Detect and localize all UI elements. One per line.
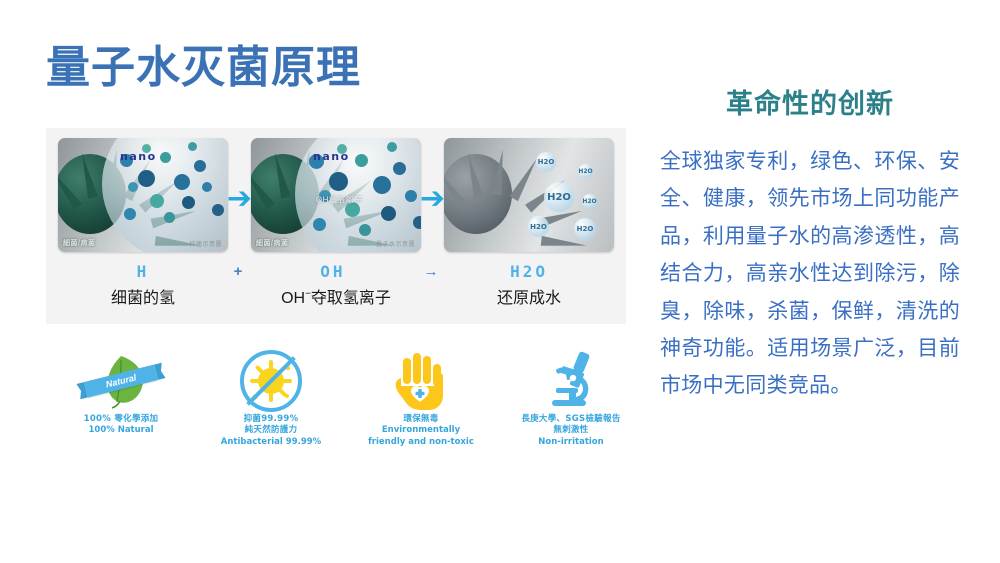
nano-logo: nano bbox=[120, 150, 157, 163]
caption-bacteria-hydrogen: 细菌的氢 bbox=[58, 284, 228, 308]
feature-non-toxic-line2: Environmentally bbox=[346, 425, 496, 436]
feature-non-irritation: 長庚大學、SGS檢驗報告 無刺激性 Non-irritation bbox=[496, 348, 646, 468]
feature-antibacterial-line2: 純天然防護力 bbox=[196, 425, 346, 436]
right-column: 革命性的创新 全球独家专利，绿色、环保、安全、健康，领先市场上同功能产品，利用量… bbox=[660, 82, 960, 405]
feature-non-irritation-caption: 長庚大學、SGS檢驗報告 無刺激性 Non-irritation bbox=[496, 414, 646, 448]
panel-oh-caption-right: 量子水示意圖 bbox=[376, 239, 415, 248]
feature-non-toxic: 環保無毒 Environmentally friendly and non-to… bbox=[346, 348, 496, 468]
diagram-step-water: H2O H2O H2O H2O H2O H2O bbox=[444, 138, 614, 252]
arrow-right-icon: ➔ bbox=[420, 184, 445, 214]
diagram-step-oh: nano OH氫氧離子 H離子 細菌/病菌 量子水示意圖 bbox=[251, 138, 421, 252]
feature-non-toxic-caption: 環保無毒 Environmentally friendly and non-to… bbox=[346, 414, 496, 448]
feature-natural-caption: 100% 零化學添加 100% Natural bbox=[46, 414, 196, 437]
panel-water-image: H2O H2O H2O H2O H2O H2O bbox=[444, 138, 614, 252]
nano-logo: nano bbox=[313, 150, 350, 163]
panel-bacteria-caption-right: 抑菌示意圖 bbox=[189, 239, 222, 248]
water-bubble: H2O bbox=[528, 216, 549, 237]
water-bubble: H2O bbox=[536, 152, 556, 172]
panel-oh-image: nano OH氫氧離子 H離子 細菌/病菌 量子水示意圖 bbox=[251, 138, 421, 252]
feature-non-irritation-line1: 長庚大學、SGS檢驗報告 bbox=[496, 414, 646, 425]
diagram-step-bacteria: nano 細菌/病菌 抑菌示意圖 bbox=[58, 138, 228, 252]
diagram-image-row: nano 細菌/病菌 抑菌示意圖 ➔ bbox=[46, 138, 626, 258]
feature-antibacterial-line1: 抑菌99.99% bbox=[196, 414, 346, 425]
water-bubble: H2O bbox=[574, 218, 596, 240]
left-column: nano 細菌/病菌 抑菌示意圖 ➔ bbox=[46, 128, 626, 324]
reaction-diagram-panel: nano 細菌/病菌 抑菌示意圖 ➔ bbox=[46, 128, 626, 324]
diagram-caption-row: 细菌的氢 OH−夺取氢离子 还原成水 bbox=[46, 284, 626, 318]
caption-reduced-to-water: 还原成水 bbox=[444, 284, 614, 308]
feature-antibacterial-caption: 抑菌99.99% 純天然防護力 Antibacterial 99.99% bbox=[196, 414, 346, 448]
symbol-h2o: H2O bbox=[444, 262, 614, 281]
diagram-connector-1: ➔ bbox=[228, 138, 251, 252]
feature-non-irritation-line2: 無刺激性 bbox=[496, 425, 646, 436]
water-bubble: H2O bbox=[582, 194, 597, 209]
feature-natural-line1: 100% 零化學添加 bbox=[46, 414, 196, 425]
feature-natural: Natural 100% 零化學添加 100% Natural bbox=[46, 348, 196, 468]
caption-oh-prefix: OH bbox=[281, 290, 305, 307]
microscope-icon bbox=[496, 348, 646, 414]
feature-antibacterial-line3: Antibacterial 99.99% bbox=[196, 437, 346, 448]
page-title: 量子水灭菌原理 bbox=[46, 46, 361, 90]
feature-icon-row: Natural 100% 零化學添加 100% Natural bbox=[46, 348, 646, 468]
panel-bacteria-image: nano 細菌/病菌 抑菌示意圖 bbox=[58, 138, 228, 252]
feature-natural-line2: 100% Natural bbox=[46, 425, 196, 436]
symbol-plus: + bbox=[228, 263, 248, 280]
hand-shape-icon bbox=[393, 350, 449, 412]
symbol-yields: → bbox=[418, 263, 444, 280]
caption-oh-takes-hydrogen: OH−夺取氢离子 bbox=[251, 284, 421, 308]
innovation-heading: 革命性的创新 bbox=[660, 82, 960, 121]
slide-root: 量子水灭菌原理 bbox=[0, 0, 1000, 563]
feature-non-toxic-line3: friendly and non-toxic bbox=[346, 437, 496, 448]
feature-non-irritation-line3: Non-irritation bbox=[496, 437, 646, 448]
leaf-icon: Natural bbox=[46, 348, 196, 414]
water-bubble: H2O bbox=[578, 164, 593, 179]
oh-ion-label: OH氫氧離子 bbox=[316, 194, 363, 205]
no-germ-icon bbox=[196, 348, 346, 414]
h-ion-label: H離子 bbox=[322, 229, 341, 239]
microscope-shape-icon bbox=[542, 350, 600, 412]
panel-oh-caption-left: 細菌/病菌 bbox=[256, 238, 288, 248]
feature-non-toxic-line1: 環保無毒 bbox=[346, 414, 496, 425]
diagram-connector-2: ➔ bbox=[421, 138, 444, 252]
symbol-oh: OH bbox=[248, 262, 418, 281]
symbol-h: H bbox=[58, 262, 228, 281]
caption-oh-rest: 夺取氢离子 bbox=[311, 290, 391, 307]
water-bubble: H2O bbox=[544, 182, 574, 212]
hand-heart-icon bbox=[346, 348, 496, 414]
panel-bacteria-caption-left: 細菌/病菌 bbox=[63, 238, 95, 248]
arrow-right-icon: ➔ bbox=[227, 184, 252, 214]
feature-antibacterial: 抑菌99.99% 純天然防護力 Antibacterial 99.99% bbox=[196, 348, 346, 468]
innovation-body-text: 全球独家专利，绿色、环保、安全、健康，领先市场上同功能产品，利用量子水的高渗透性… bbox=[660, 143, 960, 405]
diagram-symbol-row: H + OH → H2O bbox=[46, 258, 626, 284]
